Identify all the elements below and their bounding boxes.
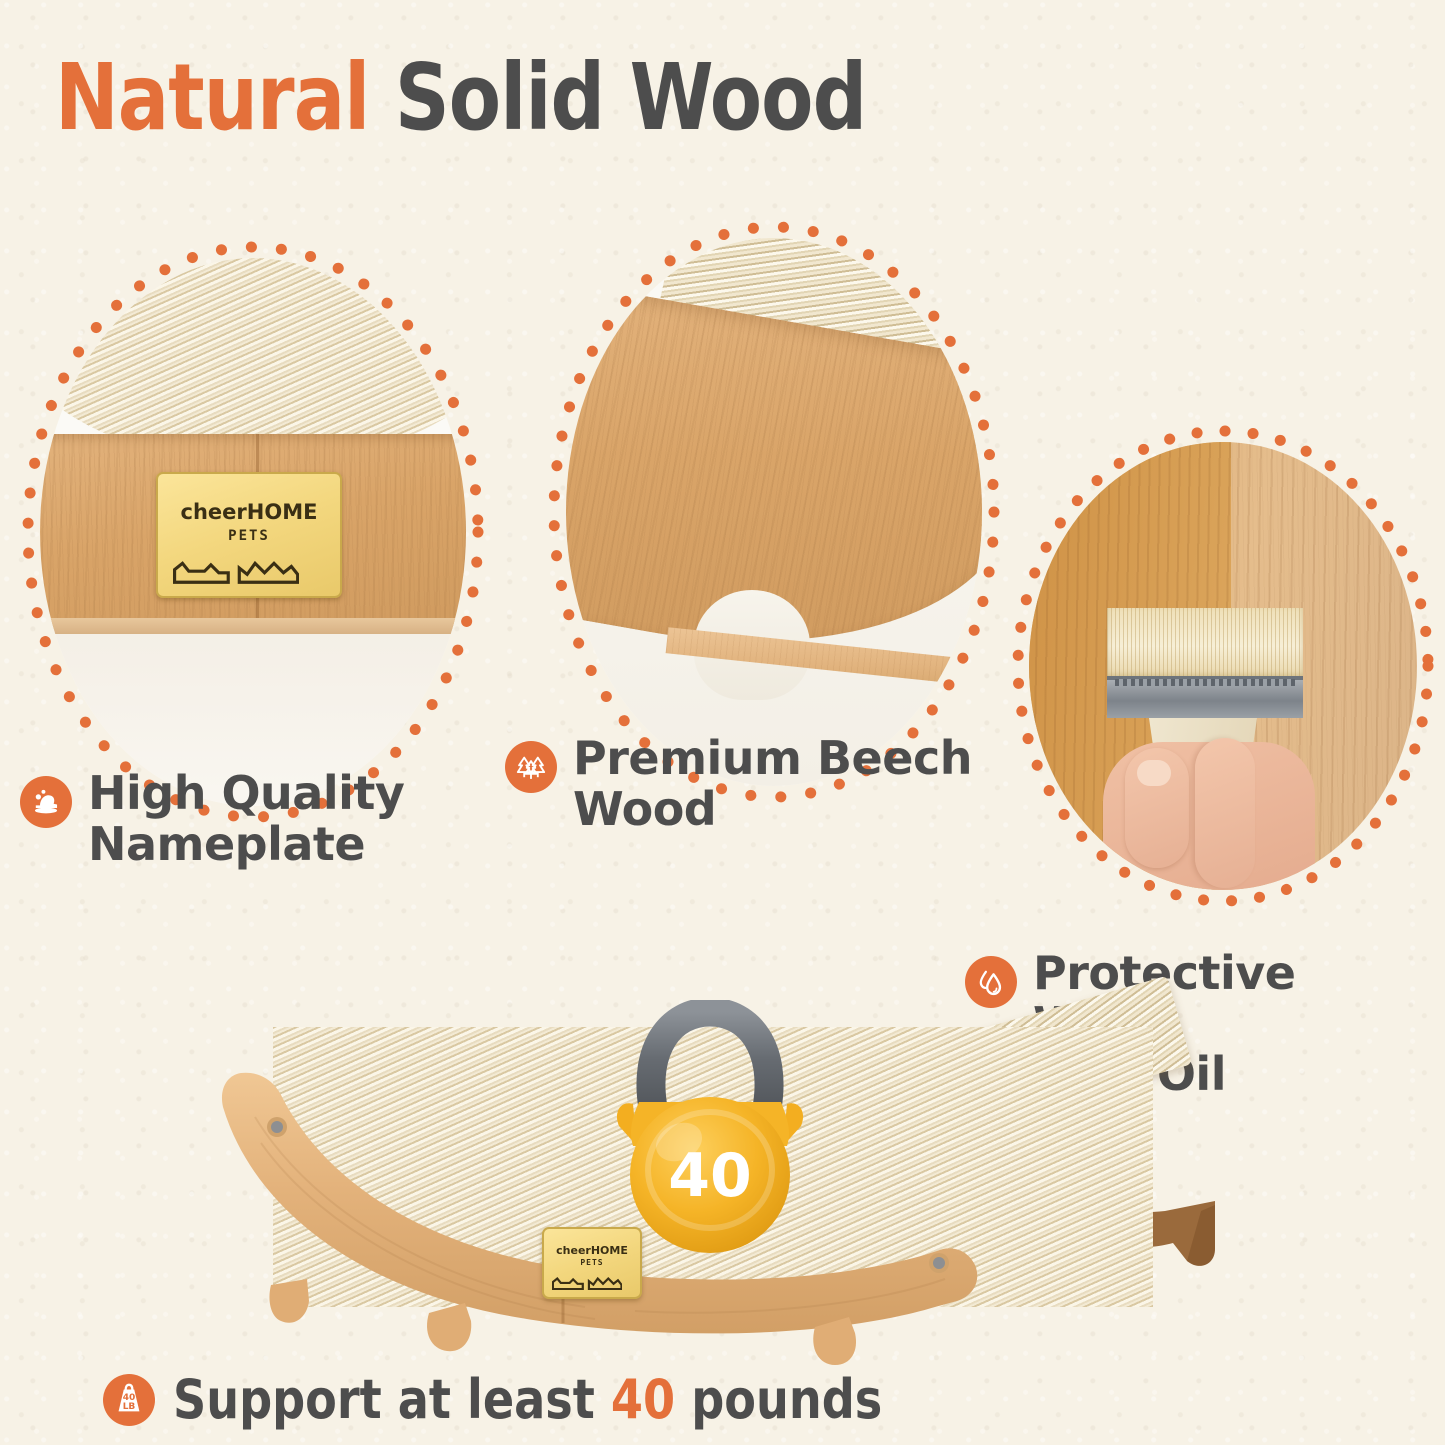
title-main-words: Solid Wood <box>395 44 866 151</box>
nameplate-cat-silhouette-icon <box>173 557 299 584</box>
feature-photo-wax-oil <box>1005 418 1441 914</box>
feature-photo-beech-wood <box>540 212 1008 812</box>
thumbnail <box>1137 760 1171 786</box>
weight-badge-icon: 40 LB <box>103 1374 155 1426</box>
support-caption-text: Support at least 40 pounds <box>173 1368 882 1431</box>
brush-bristle-strands <box>1107 608 1303 678</box>
weight-badge-unit: LB <box>123 1402 136 1412</box>
wood-lip <box>40 618 466 634</box>
photo-clip-1: cheerHOME PETS <box>40 258 466 806</box>
photo-clip-2 <box>566 238 982 786</box>
weight-badge-glyph: 40 LB <box>110 1381 148 1419</box>
feature-label-line1: Premium Beech <box>573 733 972 784</box>
feature-label-line2: Wood <box>573 784 972 835</box>
feature-label-text-2: Premium Beech Wood <box>573 733 972 834</box>
infographic-canvas: Natural Solid Wood cheerHOME PET <box>0 0 1445 1445</box>
photo-content-waxoil <box>1029 442 1417 890</box>
photo-content-nameplate: cheerHOME PETS <box>40 258 466 806</box>
sisal-rope-texture <box>40 258 466 460</box>
support-amount: 40 <box>611 1368 675 1431</box>
feature-label-nameplate: High Quality Nameplate <box>20 768 404 869</box>
kettlebell-weight-label: 40 <box>668 1141 752 1211</box>
nameplate-plaque: cheerHOME PETS <box>156 472 342 598</box>
feature-photo-nameplate: cheerHOME PETS <box>14 232 492 832</box>
product-nameplate-cat-icon <box>552 1275 622 1290</box>
nameplate-subtitle: PETS <box>228 529 270 543</box>
feature-label-line1: High Quality <box>88 768 404 819</box>
support-prefix: Support at least <box>173 1368 595 1431</box>
feature-label-text-1: High Quality Nameplate <box>88 768 404 869</box>
title-accent-word: Natural <box>55 44 369 151</box>
feature-label-beech-wood: Premium Beech Wood <box>505 733 972 834</box>
polish-sparkle-glyph <box>29 785 63 819</box>
product-nameplate-subtitle: PETS <box>580 1259 603 1267</box>
support-caption: 40 LB Support at least 40 pounds <box>103 1368 920 1431</box>
kettlebell: 40 <box>575 1000 845 1260</box>
brush-ferrule-crimp <box>1115 679 1295 686</box>
water-droplets-glyph <box>974 965 1008 999</box>
photo-content-beech <box>566 238 982 786</box>
polish-sparkle-icon <box>20 776 72 828</box>
support-suffix: pounds <box>691 1368 882 1431</box>
feature-label-line2: Nameplate <box>88 819 404 870</box>
nameplate-brand: cheerHOME <box>181 502 318 523</box>
pine-trees-glyph <box>514 750 548 784</box>
product-photo: cheerHOME PETS <box>215 1005 1245 1380</box>
pine-trees-icon <box>505 741 557 793</box>
photo-clip-3 <box>1029 442 1417 890</box>
kettlebell-shape: 40 <box>575 1000 845 1260</box>
page-title: Natural Solid Wood <box>55 52 866 144</box>
index-finger <box>1195 738 1255 888</box>
water-droplets-icon <box>965 956 1017 1008</box>
